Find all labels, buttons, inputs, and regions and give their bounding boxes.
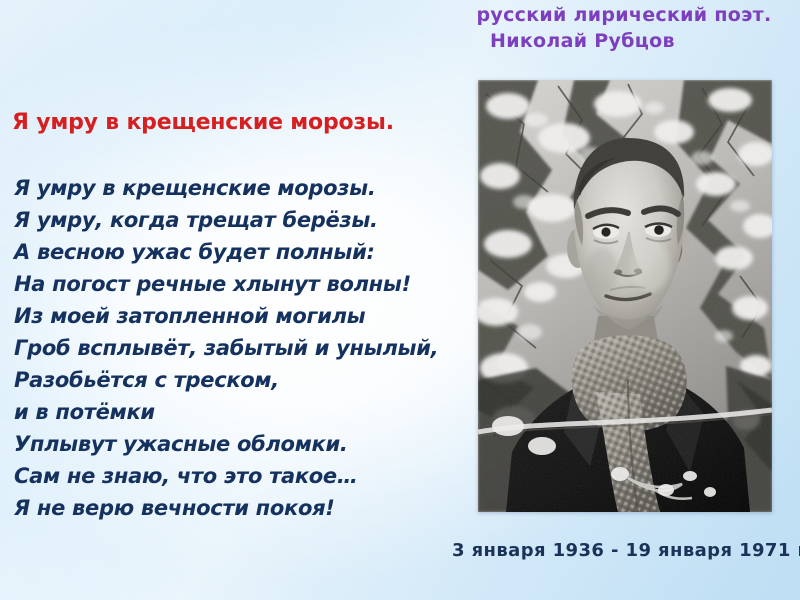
portrait-date-caption: 3 января 1936 - 19 января 1971 гг. bbox=[452, 540, 796, 561]
slide-heading: русский лирический поэт. Николай Рубцов bbox=[452, 2, 796, 54]
poem-line: Разобьётся с треском, bbox=[14, 364, 434, 396]
poem-line: Гроб всплывёт, забытый и унылый, bbox=[14, 332, 434, 364]
poem-line: Уплывут ужасные обломки. bbox=[14, 428, 434, 460]
poem-line: Я не верю вечности покоя! bbox=[14, 492, 434, 524]
poem-body: Я умру в крещенские морозы. Я умру, когд… bbox=[14, 172, 434, 524]
poem-line: и в потёмки bbox=[14, 396, 434, 428]
poem-line: На погост речные хлынут волны! bbox=[14, 268, 434, 300]
portrait-photo bbox=[478, 80, 772, 512]
heading-line-1: русский лирический поэт. bbox=[452, 2, 796, 28]
poem-title: Я умру в крещенские морозы. bbox=[12, 109, 394, 137]
poem-line: Из моей затопленной могилы bbox=[14, 300, 434, 332]
poem-line: Я умру, когда трещат берёзы. bbox=[14, 204, 434, 236]
poem-line: А весною ужас будет полный: bbox=[14, 236, 434, 268]
portrait-illustration bbox=[478, 80, 772, 512]
poem-line: Сам не знаю, что это такое… bbox=[14, 460, 434, 492]
heading-line-2: Николай Рубцов bbox=[452, 28, 796, 54]
slide-canvas: русский лирический поэт. Николай Рубцов … bbox=[0, 0, 800, 600]
poem-line: Я умру в крещенские морозы. bbox=[14, 172, 434, 204]
